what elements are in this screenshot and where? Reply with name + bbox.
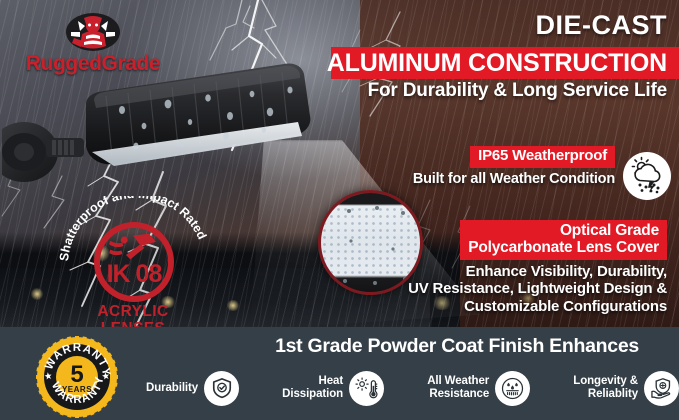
bulldog-mascot-icon xyxy=(64,12,122,54)
bottom-bar-title: 1st Grade Powder Coat Finish Enhances xyxy=(235,335,679,358)
headline-eyebrow: DIE-CAST xyxy=(257,12,667,39)
led-lens-closeup-icon xyxy=(318,190,423,295)
brand-logo: RuggedGrade xyxy=(18,12,168,74)
feature-label: Heat Dissipation xyxy=(282,375,343,401)
ik-rating-circle: IK 08 xyxy=(94,222,174,302)
warranty-badge: WARRANTY WARRANTY 5 YEARS xyxy=(31,336,123,418)
feature-item-durability[interactable]: Durability xyxy=(146,371,239,406)
feature-label: Durability xyxy=(146,382,198,395)
callout-ip65-tagline: IP65 Weatherproof xyxy=(470,146,615,168)
feature-item-all-weather[interactable]: All Weather Resistance xyxy=(427,371,530,406)
callout-ip65: IP65 Weatherproof Built for all Weather … xyxy=(385,146,615,188)
shield-check-icon xyxy=(204,371,239,406)
callout-optical-tagline: Optical Grade Polycarbonate Lens Cover xyxy=(460,220,667,260)
product-feature-banner: RuggedGrade DIE-CAST ALUMINUM CONSTRUCTI… xyxy=(0,0,679,420)
hammer-strike-icon xyxy=(106,232,160,262)
headline-subhead: For Durability & Long Service Life xyxy=(247,80,667,102)
hand-holding-shield-icon xyxy=(644,371,679,406)
headline-group: DIE-CAST xyxy=(257,12,667,39)
rain-cloud-sun-icon xyxy=(623,152,671,200)
feature-label: Longevity & Reliablity xyxy=(573,375,638,401)
callout-ip65-body: Built for all Weather Condition xyxy=(385,171,615,188)
thermometer-sun-icon xyxy=(349,371,384,406)
headline-banner: ALUMINUM CONSTRUCTION xyxy=(331,47,679,79)
feature-label: All Weather Resistance xyxy=(427,375,489,401)
headline-banner-text: ALUMINUM CONSTRUCTION xyxy=(327,49,667,78)
brand-name: RuggedGrade xyxy=(18,52,168,76)
weather-face-icon xyxy=(495,371,530,406)
warranty-unit: YEARS xyxy=(62,385,92,394)
warranty-number: 5 xyxy=(70,361,83,388)
feature-item-heat-dissipation[interactable]: Heat Dissipation xyxy=(282,371,384,406)
feature-item-longevity[interactable]: Longevity & Reliablity xyxy=(573,371,679,406)
feature-icon-list: Durability Heat Dissipation xyxy=(146,362,679,414)
impact-rating-badge: Shatterproof and impact Rated IK 08 ACRY… xyxy=(58,200,208,320)
ik-rating-value: IK 08 xyxy=(107,262,162,287)
